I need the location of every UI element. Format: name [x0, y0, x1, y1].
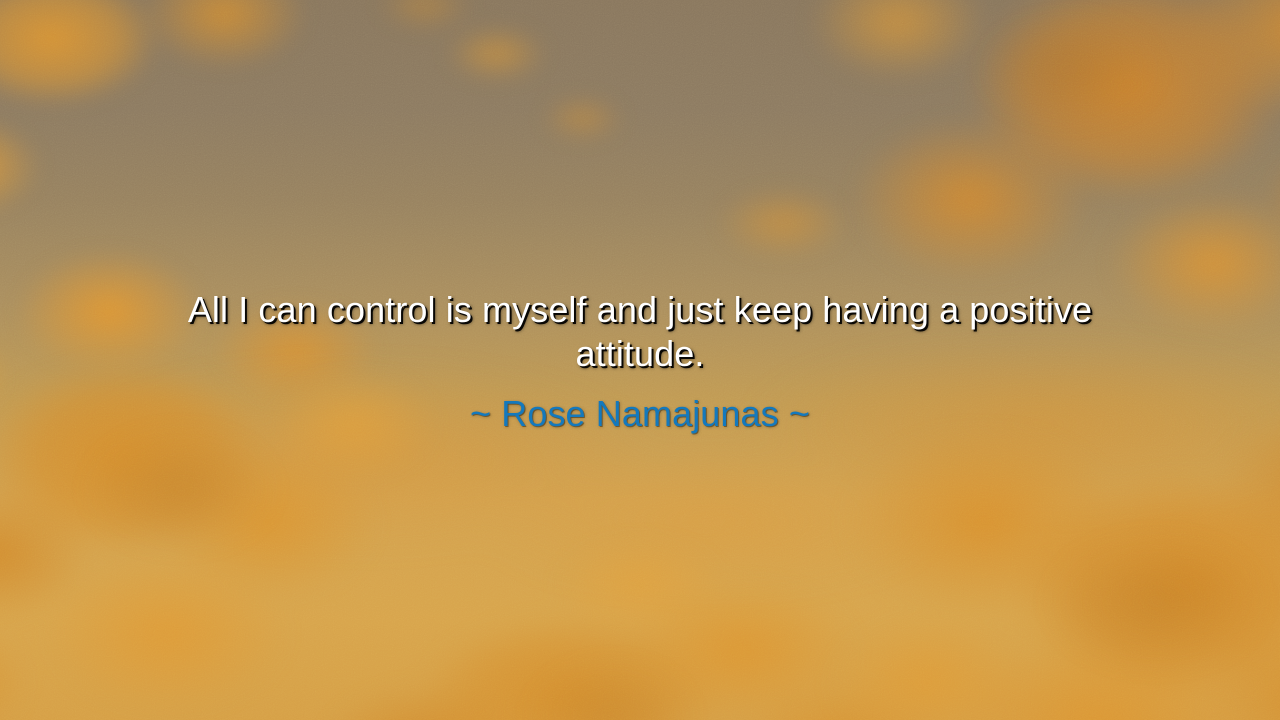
quote-card: All I can control is myself and just kee…	[0, 0, 1280, 720]
quote-attribution: ~ Rose Namajunas ~	[120, 392, 1160, 436]
quote-text: All I can control is myself and just kee…	[120, 288, 1160, 376]
quote-block: All I can control is myself and just kee…	[0, 288, 1280, 436]
